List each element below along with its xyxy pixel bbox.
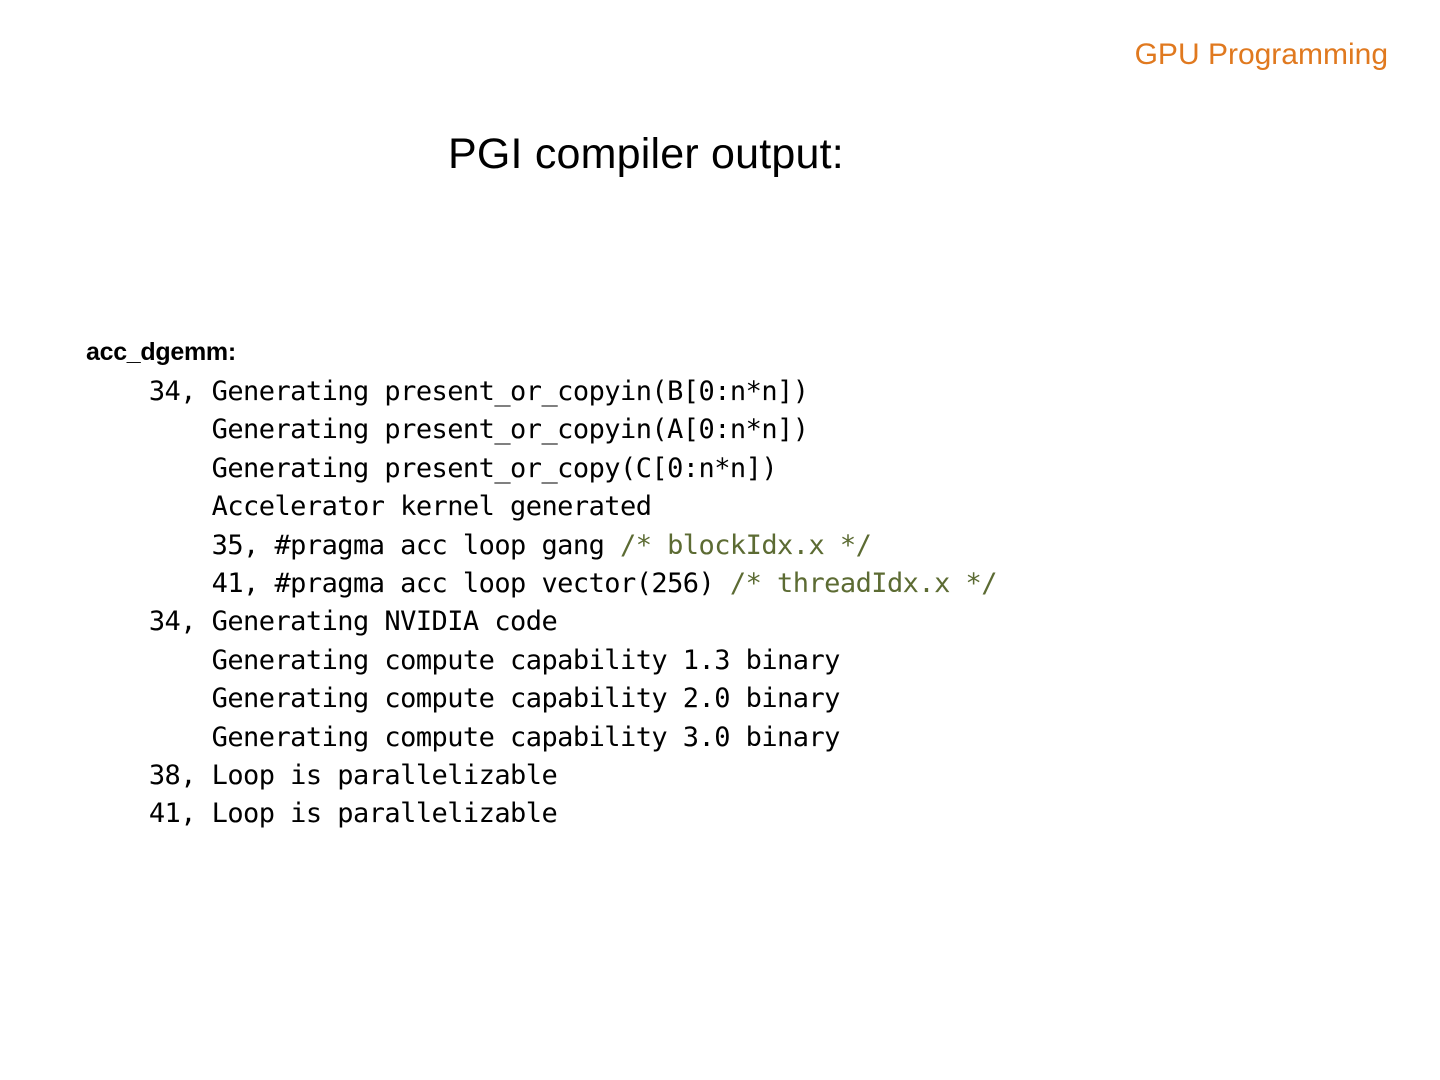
code-line: 34, Generating NVIDIA code	[86, 603, 1386, 641]
code-line-text: Accelerator kernel generated	[86, 491, 651, 522]
code-comment-token: /* threadIdx.x */	[730, 568, 997, 599]
code-line: Generating present_or_copy(C[0:n*n])	[86, 450, 1386, 488]
code-comment-token: /* blockIdx.x */	[620, 530, 871, 561]
code-line-text: 38, Loop is parallelizable	[86, 760, 557, 791]
code-line-text: 35, #pragma acc loop gang	[86, 530, 620, 561]
code-line: 35, #pragma acc loop gang /* blockIdx.x …	[86, 527, 1386, 565]
slide-canvas: GPU Programming PGI compiler output: acc…	[0, 0, 1440, 1080]
code-line-text: Generating compute capability 1.3 binary	[86, 645, 840, 676]
code-line-text: Generating compute capability 3.0 binary	[86, 722, 840, 753]
code-line: Generating compute capability 2.0 binary	[86, 680, 1386, 718]
page-title: PGI compiler output:	[448, 130, 844, 179]
compiler-output-lines: 34, Generating present_or_copyin(B[0:n*n…	[86, 373, 1386, 834]
code-line: Generating compute capability 1.3 binary	[86, 642, 1386, 680]
code-line: 38, Loop is parallelizable	[86, 757, 1386, 795]
code-line: 41, #pragma acc loop vector(256) /* thre…	[86, 565, 1386, 603]
code-line: Accelerator kernel generated	[86, 488, 1386, 526]
compiler-output-block: acc_dgemm: 34, Generating present_or_cop…	[86, 333, 1386, 834]
code-line-text: 41, #pragma acc loop vector(256)	[86, 568, 730, 599]
course-header-label: GPU Programming	[1135, 38, 1388, 71]
code-line-text: 34, Generating NVIDIA code	[86, 606, 557, 637]
code-line: 34, Generating present_or_copyin(B[0:n*n…	[86, 373, 1386, 411]
code-line: 41, Loop is parallelizable	[86, 795, 1386, 833]
code-line-text: 34, Generating present_or_copyin(B[0:n*n…	[86, 376, 808, 407]
compiler-output-heading: acc_dgemm:	[86, 333, 1386, 371]
code-line-text: Generating present_or_copy(C[0:n*n])	[86, 453, 777, 484]
code-line: Generating present_or_copyin(A[0:n*n])	[86, 411, 1386, 449]
code-line-text: 41, Loop is parallelizable	[86, 798, 557, 829]
code-line-text: Generating present_or_copyin(A[0:n*n])	[86, 414, 808, 445]
code-line-text: Generating compute capability 2.0 binary	[86, 683, 840, 714]
code-line: Generating compute capability 3.0 binary	[86, 719, 1386, 757]
